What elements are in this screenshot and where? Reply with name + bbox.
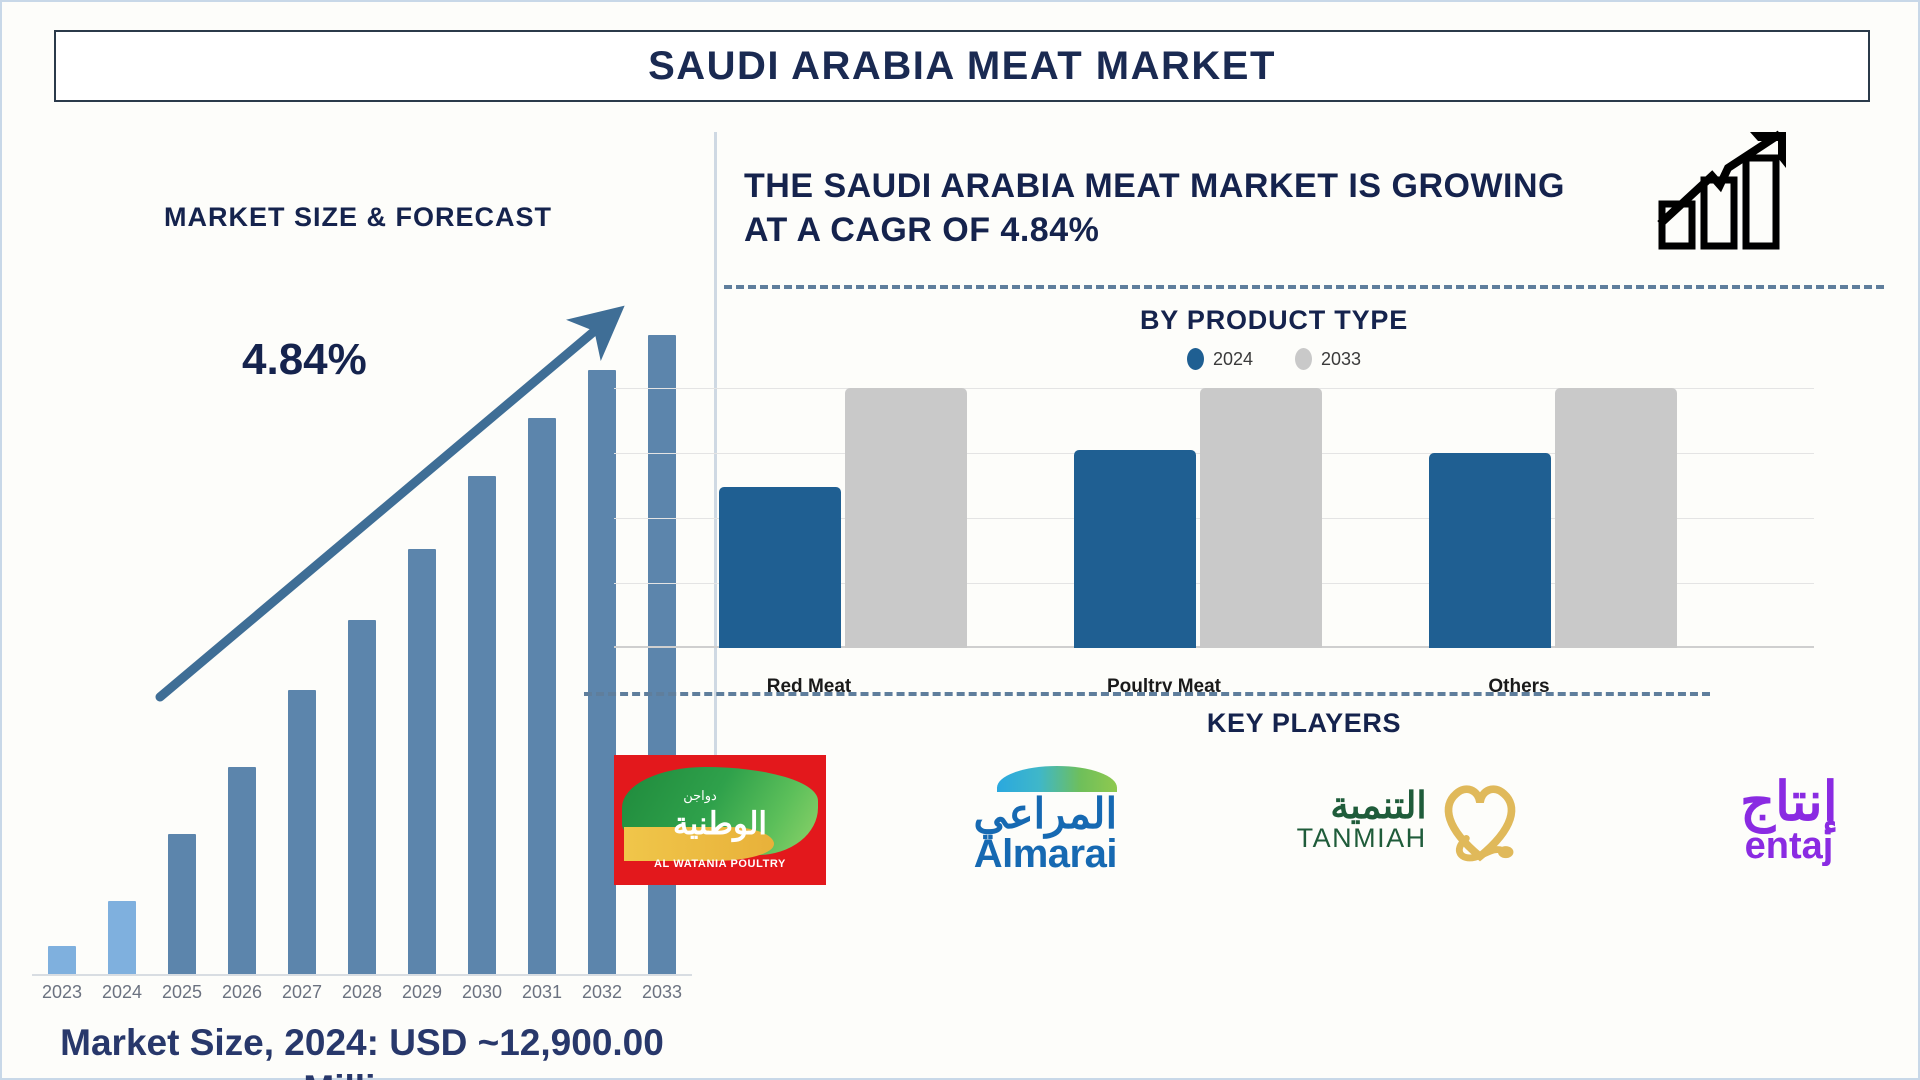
market-size-year-labels: 2023202420252026202720282029203020312032… [32, 982, 692, 1012]
market-size-bar [108, 335, 136, 975]
divider-bottom-dashed [584, 692, 1710, 696]
bar-2029 [408, 549, 436, 975]
tanmiah-heart-icon [1437, 775, 1523, 865]
tanmiah-arabic-name: التنمية [1330, 787, 1426, 824]
bar-2026 [228, 767, 256, 975]
bar-2031 [528, 418, 556, 975]
bar-2028 [348, 620, 376, 975]
market-size-bar [228, 335, 256, 975]
bar-red-meat-2024 [719, 487, 841, 648]
bar-2023 [48, 946, 76, 975]
market-size-bar [528, 335, 556, 975]
key-players-title: KEY PLAYERS [804, 708, 1804, 739]
year-label-2027: 2027 [272, 982, 332, 1003]
logo-tanmiah: التنمية TANMIAH [1265, 775, 1555, 865]
market-size-value: Market Size, 2024: USD ~12,900.00 Millio… [12, 1020, 712, 1080]
market-size-section-title: MARKET SIZE & FORECAST [2, 202, 714, 233]
entaj-arabic-name: إنتاج [1740, 775, 1838, 829]
legend-label-2033: 2033 [1321, 349, 1361, 370]
tanmiah-text-block: التنمية TANMIAH [1297, 787, 1427, 854]
entaj-english-name: entaj [1745, 827, 1834, 865]
year-label-2032: 2032 [572, 982, 632, 1003]
almarai-english-name: Almarai [974, 834, 1117, 874]
market-size-axis [32, 974, 692, 976]
al-watania-arabic-main: الوطنية [614, 806, 826, 842]
product-group-others [1429, 388, 1759, 648]
product-group-red-meat [719, 388, 1049, 648]
legend-dot-2033 [1295, 348, 1312, 370]
legend-item-2024: 2024 [1187, 348, 1253, 370]
title-box: SAUDI ARABIA MEAT MARKET [54, 30, 1870, 102]
logo-almarai: المراعي Almarai [945, 766, 1145, 874]
year-label-2030: 2030 [452, 982, 512, 1003]
growth-bar-chart-arrow-icon [1654, 128, 1804, 253]
bar-others-2033 [1555, 388, 1677, 648]
market-size-bar [468, 335, 496, 975]
year-label-2026: 2026 [212, 982, 272, 1003]
market-size-bar [348, 335, 376, 975]
bar-others-2024 [1429, 453, 1551, 648]
almarai-fan-mark [997, 766, 1117, 792]
year-label-2025: 2025 [152, 982, 212, 1003]
bar-2030 [468, 476, 496, 975]
year-label-2028: 2028 [332, 982, 392, 1003]
market-size-bar-chart [32, 335, 692, 975]
product-type-panel: THE SAUDI ARABIA MEAT MARKET IS GROWING … [724, 120, 1920, 1080]
market-size-bar [288, 335, 316, 975]
legend-dot-2024 [1187, 348, 1204, 370]
bar-2025 [168, 834, 196, 975]
product-chart-legend: 2024 2033 [724, 348, 1824, 370]
product-group-poultry-meat [1074, 388, 1404, 648]
logo-al-watania-poultry: دواجن الوطنية AL WATANIA POULTRY [614, 755, 826, 885]
market-size-bar [48, 335, 76, 975]
year-label-2029: 2029 [392, 982, 452, 1003]
infographic-page: SAUDI ARABIA MEAT MARKET MARKET SIZE & F… [0, 0, 1920, 1080]
logo-entaj: إنتاج entaj [1674, 775, 1904, 865]
divider-top-dashed [724, 285, 1884, 289]
year-label-2024: 2024 [92, 982, 152, 1003]
bar-red-meat-2033 [845, 388, 967, 648]
year-label-2033: 2033 [632, 982, 692, 1003]
almarai-arabic-name: المراعي [973, 794, 1117, 834]
market-size-bar [408, 335, 436, 975]
year-label-2031: 2031 [512, 982, 572, 1003]
bar-poultry-meat-2024 [1074, 450, 1196, 648]
page-title: SAUDI ARABIA MEAT MARKET [648, 44, 1276, 89]
by-product-type-title: BY PRODUCT TYPE [724, 305, 1824, 336]
legend-label-2024: 2024 [1213, 349, 1253, 370]
tanmiah-english-name: TANMIAH [1297, 824, 1427, 854]
bar-poultry-meat-2033 [1200, 388, 1322, 648]
bar-2027 [288, 690, 316, 975]
cagr-headline: THE SAUDI ARABIA MEAT MARKET IS GROWING … [744, 165, 1584, 252]
key-players-logos: دواجن الوطنية AL WATANIA POULTRY المراعي… [614, 740, 1904, 900]
legend-item-2033: 2033 [1295, 348, 1361, 370]
market-size-bar [168, 335, 196, 975]
market-size-bar [588, 335, 616, 975]
year-label-2023: 2023 [32, 982, 92, 1003]
product-type-bar-chart: Red MeatPoultry MeatOthers [614, 388, 1814, 648]
al-watania-arabic-top: دواجن [614, 788, 826, 804]
bar-2024 [108, 901, 136, 975]
bar-2032 [588, 370, 616, 975]
market-size-panel: MARKET SIZE & FORECAST 4.84% 20232024202… [2, 120, 714, 1080]
al-watania-english-name: AL WATANIA POULTRY [614, 858, 826, 870]
